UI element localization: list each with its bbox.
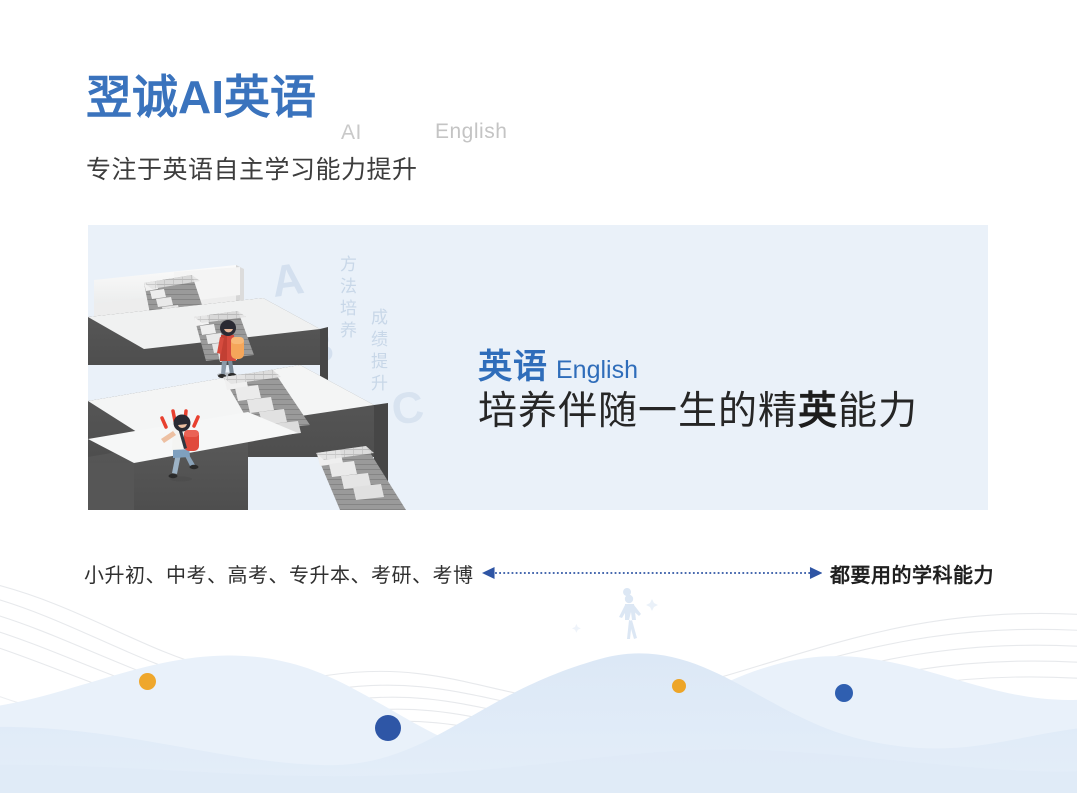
caption-row: 小升初、中考、高考、专升本、考研、考博 都要用的学科能力 [84, 558, 994, 588]
exam-list-label: 小升初、中考、高考、专升本、考研、考博 [84, 559, 474, 588]
svg-text:升: 升 [371, 374, 388, 393]
svg-text:提: 提 [371, 352, 388, 371]
subject-ability-label: 都要用的学科能力 [830, 559, 994, 588]
double-arrow-icon [482, 565, 823, 581]
decorative-dot-blue-large [375, 715, 401, 741]
svg-text:法: 法 [340, 277, 357, 296]
brand-english-watermark-label: English [435, 120, 507, 144]
svg-text:方: 方 [340, 255, 357, 274]
svg-text:C: C [389, 382, 427, 435]
hero-kicker: 英语English [478, 350, 978, 384]
svg-text:培: 培 [340, 299, 357, 318]
hero-headline: 培养伴随一生的精英能力 [478, 390, 978, 435]
wave-decoration [0, 575, 1077, 793]
page-title: 翌诚AI英语 [86, 74, 316, 120]
svg-text:养: 养 [340, 321, 357, 340]
hero-headline-pre: 培养伴随一生的精 [478, 390, 798, 433]
decorative-dot-orange-left [139, 673, 156, 690]
decorative-dot-blue-right [835, 684, 853, 702]
hero-kicker-en: English [556, 356, 638, 384]
hiker-silhouette-icon [572, 588, 658, 639]
hero-headline-emphasis: 英 [798, 390, 838, 433]
brand-header: 翌诚AI英语 AI English 专注于英语自主学习能力提升 [86, 74, 726, 194]
hero-headline-post: 能力 [838, 390, 918, 433]
svg-text:绩: 绩 [371, 330, 388, 349]
svg-text:A: A [269, 254, 307, 307]
decorative-dot-orange-right [672, 679, 686, 693]
hero-text-block: 英语English 培养伴随一生的精英能力 [478, 350, 978, 435]
svg-text:成: 成 [371, 308, 388, 327]
hero-kicker-cn: 英语 [478, 348, 548, 386]
page-subtitle: 专注于英语自主学习能力提升 [86, 150, 418, 186]
brand-ai-watermark-label: AI [341, 121, 362, 145]
hero-panel: A B C 方 法 培 养 成 绩 提 升 [88, 225, 988, 510]
